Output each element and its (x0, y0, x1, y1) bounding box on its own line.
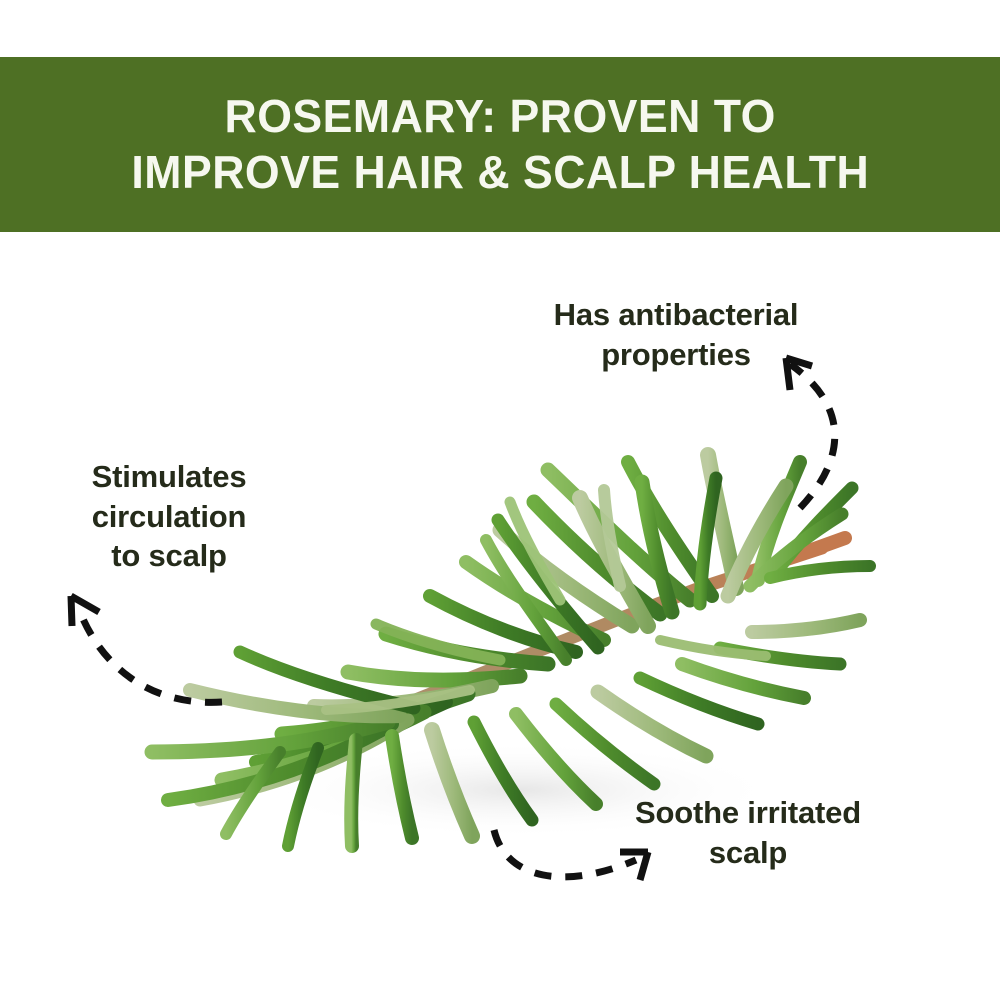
callout-label-soothe: Soothe irritated scalp (588, 793, 908, 872)
callout-label-circulation: Stimulates circulation to scalp (40, 457, 298, 576)
infographic-canvas: ROSEMARY: PROVEN TO IMPROVE HAIR & SCALP… (0, 0, 1000, 1000)
callout-label-antibacterial: Has antibacterial properties (488, 295, 864, 374)
